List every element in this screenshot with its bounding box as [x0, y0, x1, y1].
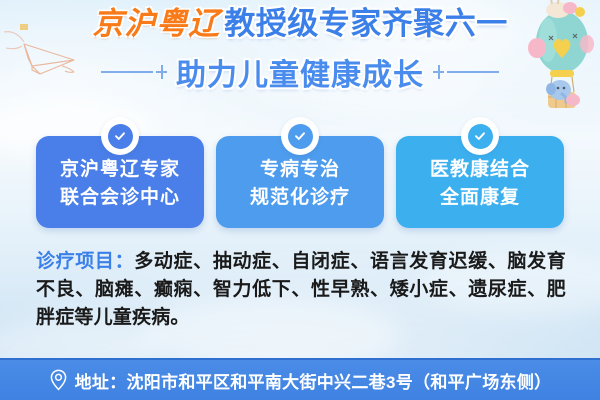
feature-card-1[interactable]: 京沪粤辽专家 联合会诊中心 — [36, 136, 204, 228]
plus-line-ornament-icon — [433, 65, 499, 79]
location-pin-icon — [49, 369, 68, 391]
line-plus-ornament-icon — [101, 65, 167, 79]
title-main-text: 教授级专家齐聚六一 — [224, 6, 508, 41]
feature-card-1-line-2: 联合会诊中心 — [60, 185, 180, 211]
subtitle-text: 助力儿童健康成长 — [176, 50, 424, 94]
title-line-2: 助力儿童健康成长 — [0, 50, 600, 94]
feature-card-2-line-1: 专病专治 — [260, 157, 340, 183]
address-bar: 地址：沈阳市和平区和平南大街中兴二巷3号（和平广场东侧） — [0, 358, 600, 400]
feature-card-1-line-1: 京沪粤辽专家 — [60, 157, 180, 183]
feature-card-2[interactable]: 专病专治 规范化诊疗 — [216, 136, 384, 228]
address-text: 地址：沈阳市和平区和平南大街中兴二巷3号（和平广场东侧） — [75, 368, 552, 393]
feature-card-3[interactable]: 医教康结合 全面康复 — [396, 136, 564, 228]
feature-card-3-line-2: 全面康复 — [440, 185, 520, 211]
poster-header: 京沪粤辽教授级专家齐聚六一 助力儿童健康成长 — [0, 0, 600, 104]
title-line-1: 京沪粤辽教授级专家齐聚六一 — [0, 4, 600, 50]
title-brush-text: 京沪粤辽 — [92, 6, 220, 41]
feature-cards: 京沪粤辽专家 联合会诊中心 专病专治 规范化诊疗 医教康结合 全面康复 — [36, 136, 564, 228]
feature-card-2-line-2: 规范化诊疗 — [250, 185, 350, 211]
check-circle-icon — [461, 117, 499, 155]
feature-card-3-line-1: 医教康结合 — [430, 157, 530, 183]
promo-poster: 京沪粤辽教授级专家齐聚六一 助力儿童健康成长 京沪粤辽专家 联合会诊中心 — [0, 0, 600, 400]
treatment-items-paragraph: 诊疗项目：多动症、抽动症、自闭症、语言发育迟缓、脑发育不良、脑瘫、癫痫、智力低下… — [36, 248, 566, 332]
treatment-items-label: 诊疗项目： — [36, 251, 134, 272]
check-circle-icon — [101, 117, 139, 155]
check-circle-icon — [281, 117, 319, 155]
